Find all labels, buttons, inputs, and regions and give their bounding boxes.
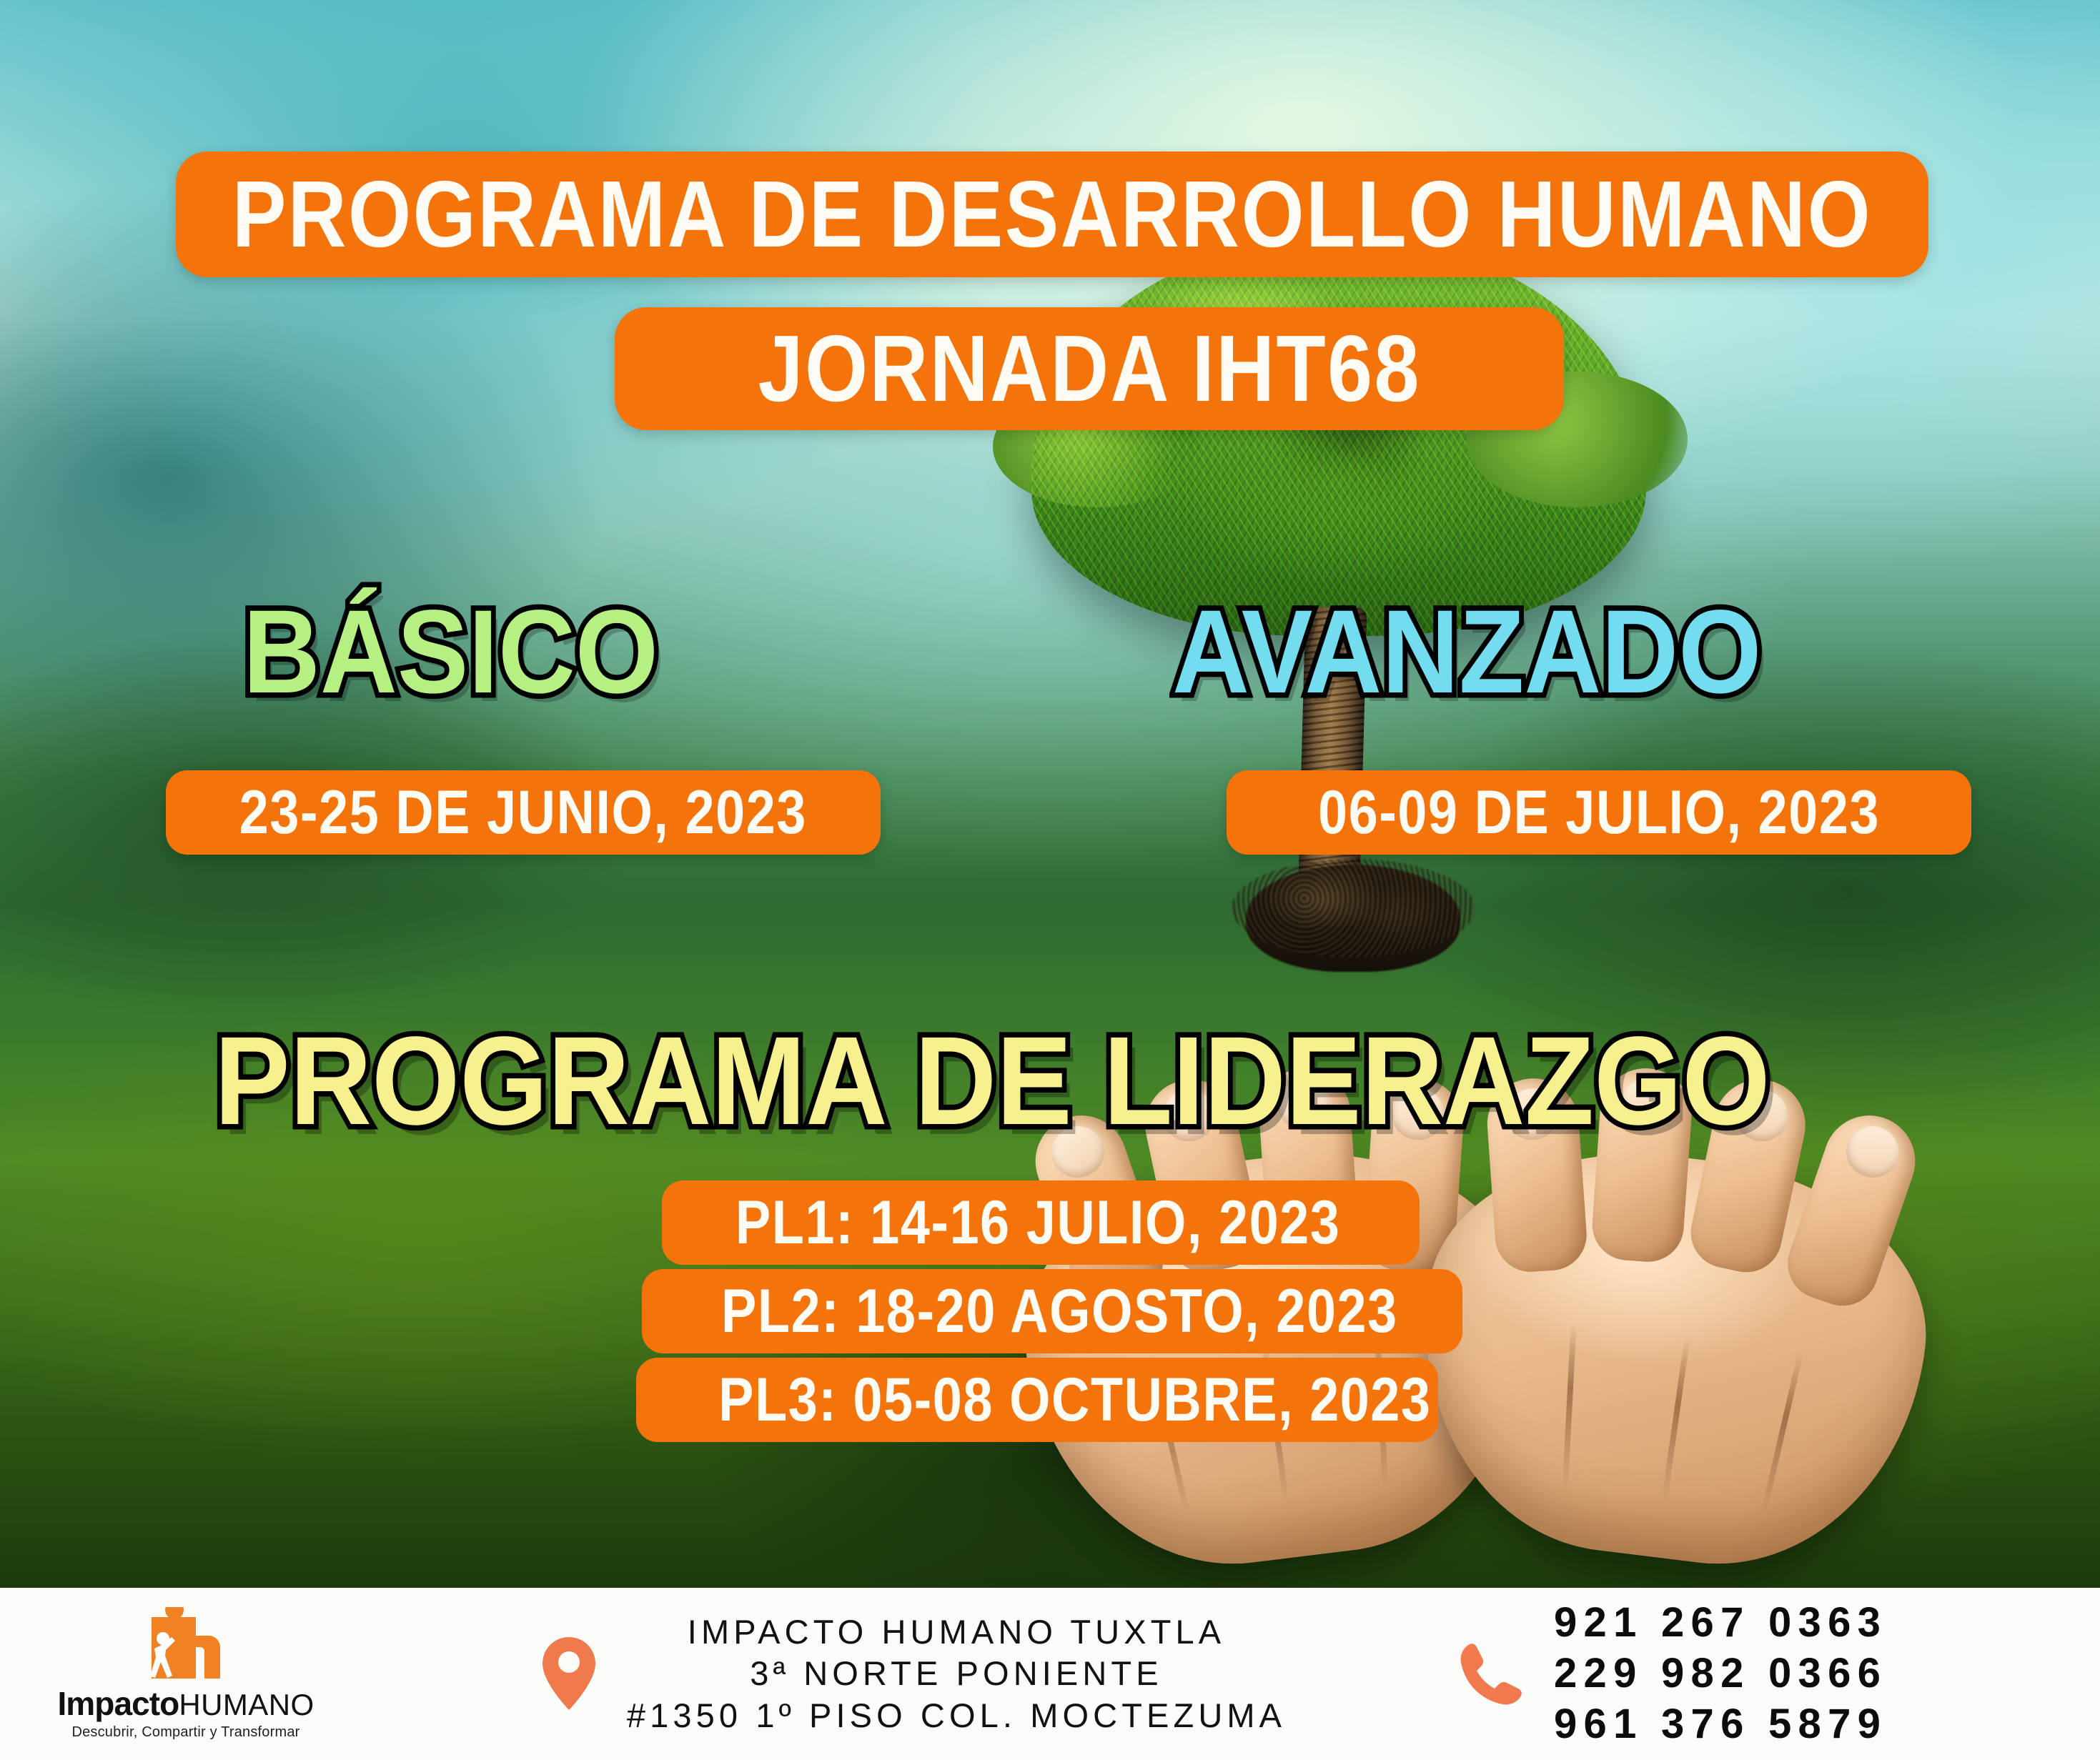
address-lines: IMPACTO HUMANO TUXTLA 3ª NORTE PONIENTE …: [627, 1611, 1286, 1736]
leadership-session-3-text: PL3: 05-08 OCTUBRE, 2023: [718, 1369, 1431, 1431]
track-basico-title: BÁSICO: [243, 593, 658, 712]
leadership-session-row: PL2: 18-20 AGOSTO, 2023: [642, 1269, 1462, 1353]
program-subtitle-text: JORNADA IHT68: [758, 322, 1420, 416]
palm-crease: [1662, 1338, 1690, 1501]
leadership-session-row: PL3: 05-08 OCTUBRE, 2023: [636, 1358, 1438, 1442]
map-pin-icon: [543, 1637, 595, 1710]
ih-monogram-person-icon: [140, 1607, 232, 1681]
logo-name-light: HUMANO: [179, 1688, 314, 1722]
logo-wordmark: Impacto HUMANO: [57, 1684, 314, 1723]
contact-info: 921 267 0363 229 982 0366 961 376 5879: [1457, 1598, 2100, 1749]
phone-number-3[interactable]: 961 376 5879: [1554, 1699, 1887, 1750]
phone-numbers[interactable]: 921 267 0363 229 982 0366 961 376 5879: [1554, 1598, 1887, 1749]
right-palm: [1399, 1128, 1944, 1586]
leadership-sessions-list: PL1: 14-16 JULIO, 2023 PL2: 18-20 AGOSTO…: [636, 1180, 1480, 1446]
phone-number-1[interactable]: 921 267 0363: [1554, 1598, 1887, 1649]
track-avanzado-dates-pill: 06-09 DE JULIO, 2023: [1227, 770, 1971, 855]
brand-logo: Impacto HUMANO Descubrir, Compartir y Tr…: [0, 1607, 372, 1741]
soil-icon: [1246, 865, 1460, 972]
tree-needles-texture: [1031, 236, 1646, 636]
leadership-session-1-text: PL1: 14-16 JULIO, 2023: [736, 1192, 1341, 1253]
program-title-text: PROGRAMA DE DESARROLLO HUMANO: [232, 167, 1872, 262]
logo-tagline: Descubrir, Compartir y Transformar: [71, 1724, 299, 1741]
fingernail: [1839, 1119, 1906, 1185]
leadership-heading: PROGRAMA DE LIDERAZGO: [214, 1018, 1770, 1144]
poster: PROGRAMA DE DESARROLLO HUMANO JORNADA IH…: [0, 0, 2100, 1760]
track-basico-dates-text: 23-25 DE JUNIO, 2023: [239, 782, 807, 843]
phone-icon: [1457, 1640, 1525, 1709]
tree-canopy: [1031, 236, 1646, 636]
address-line-3: #1350 1º PISO COL. MOCTEZUMA: [627, 1695, 1286, 1736]
footer-bar: Impacto HUMANO Descubrir, Compartir y Tr…: [0, 1588, 2100, 1760]
track-avanzado-title: AVANZADO: [1172, 593, 1761, 712]
program-subtitle-banner: JORNADA IHT68: [615, 307, 1564, 430]
palm-crease: [1761, 1352, 1804, 1513]
track-avanzado-dates-text: 06-09 DE JULIO, 2023: [1318, 782, 1880, 843]
leadership-session-2-text: PL2: 18-20 AGOSTO, 2023: [721, 1281, 1398, 1342]
leadership-session-row: PL1: 14-16 JULIO, 2023: [662, 1180, 1420, 1265]
track-basico-dates-pill: 23-25 DE JUNIO, 2023: [166, 770, 881, 855]
phone-number-2[interactable]: 229 982 0366: [1554, 1649, 1887, 1699]
address-line-1: IMPACTO HUMANO TUXTLA: [627, 1611, 1286, 1653]
location-info: IMPACTO HUMANO TUXTLA 3ª NORTE PONIENTE …: [372, 1611, 1457, 1736]
address-line-2: 3ª NORTE PONIENTE: [627, 1653, 1286, 1694]
logo-name-bold: Impacto: [57, 1684, 179, 1723]
palm-crease: [1562, 1324, 1577, 1488]
program-title-banner: PROGRAMA DE DESARROLLO HUMANO: [176, 151, 1928, 277]
